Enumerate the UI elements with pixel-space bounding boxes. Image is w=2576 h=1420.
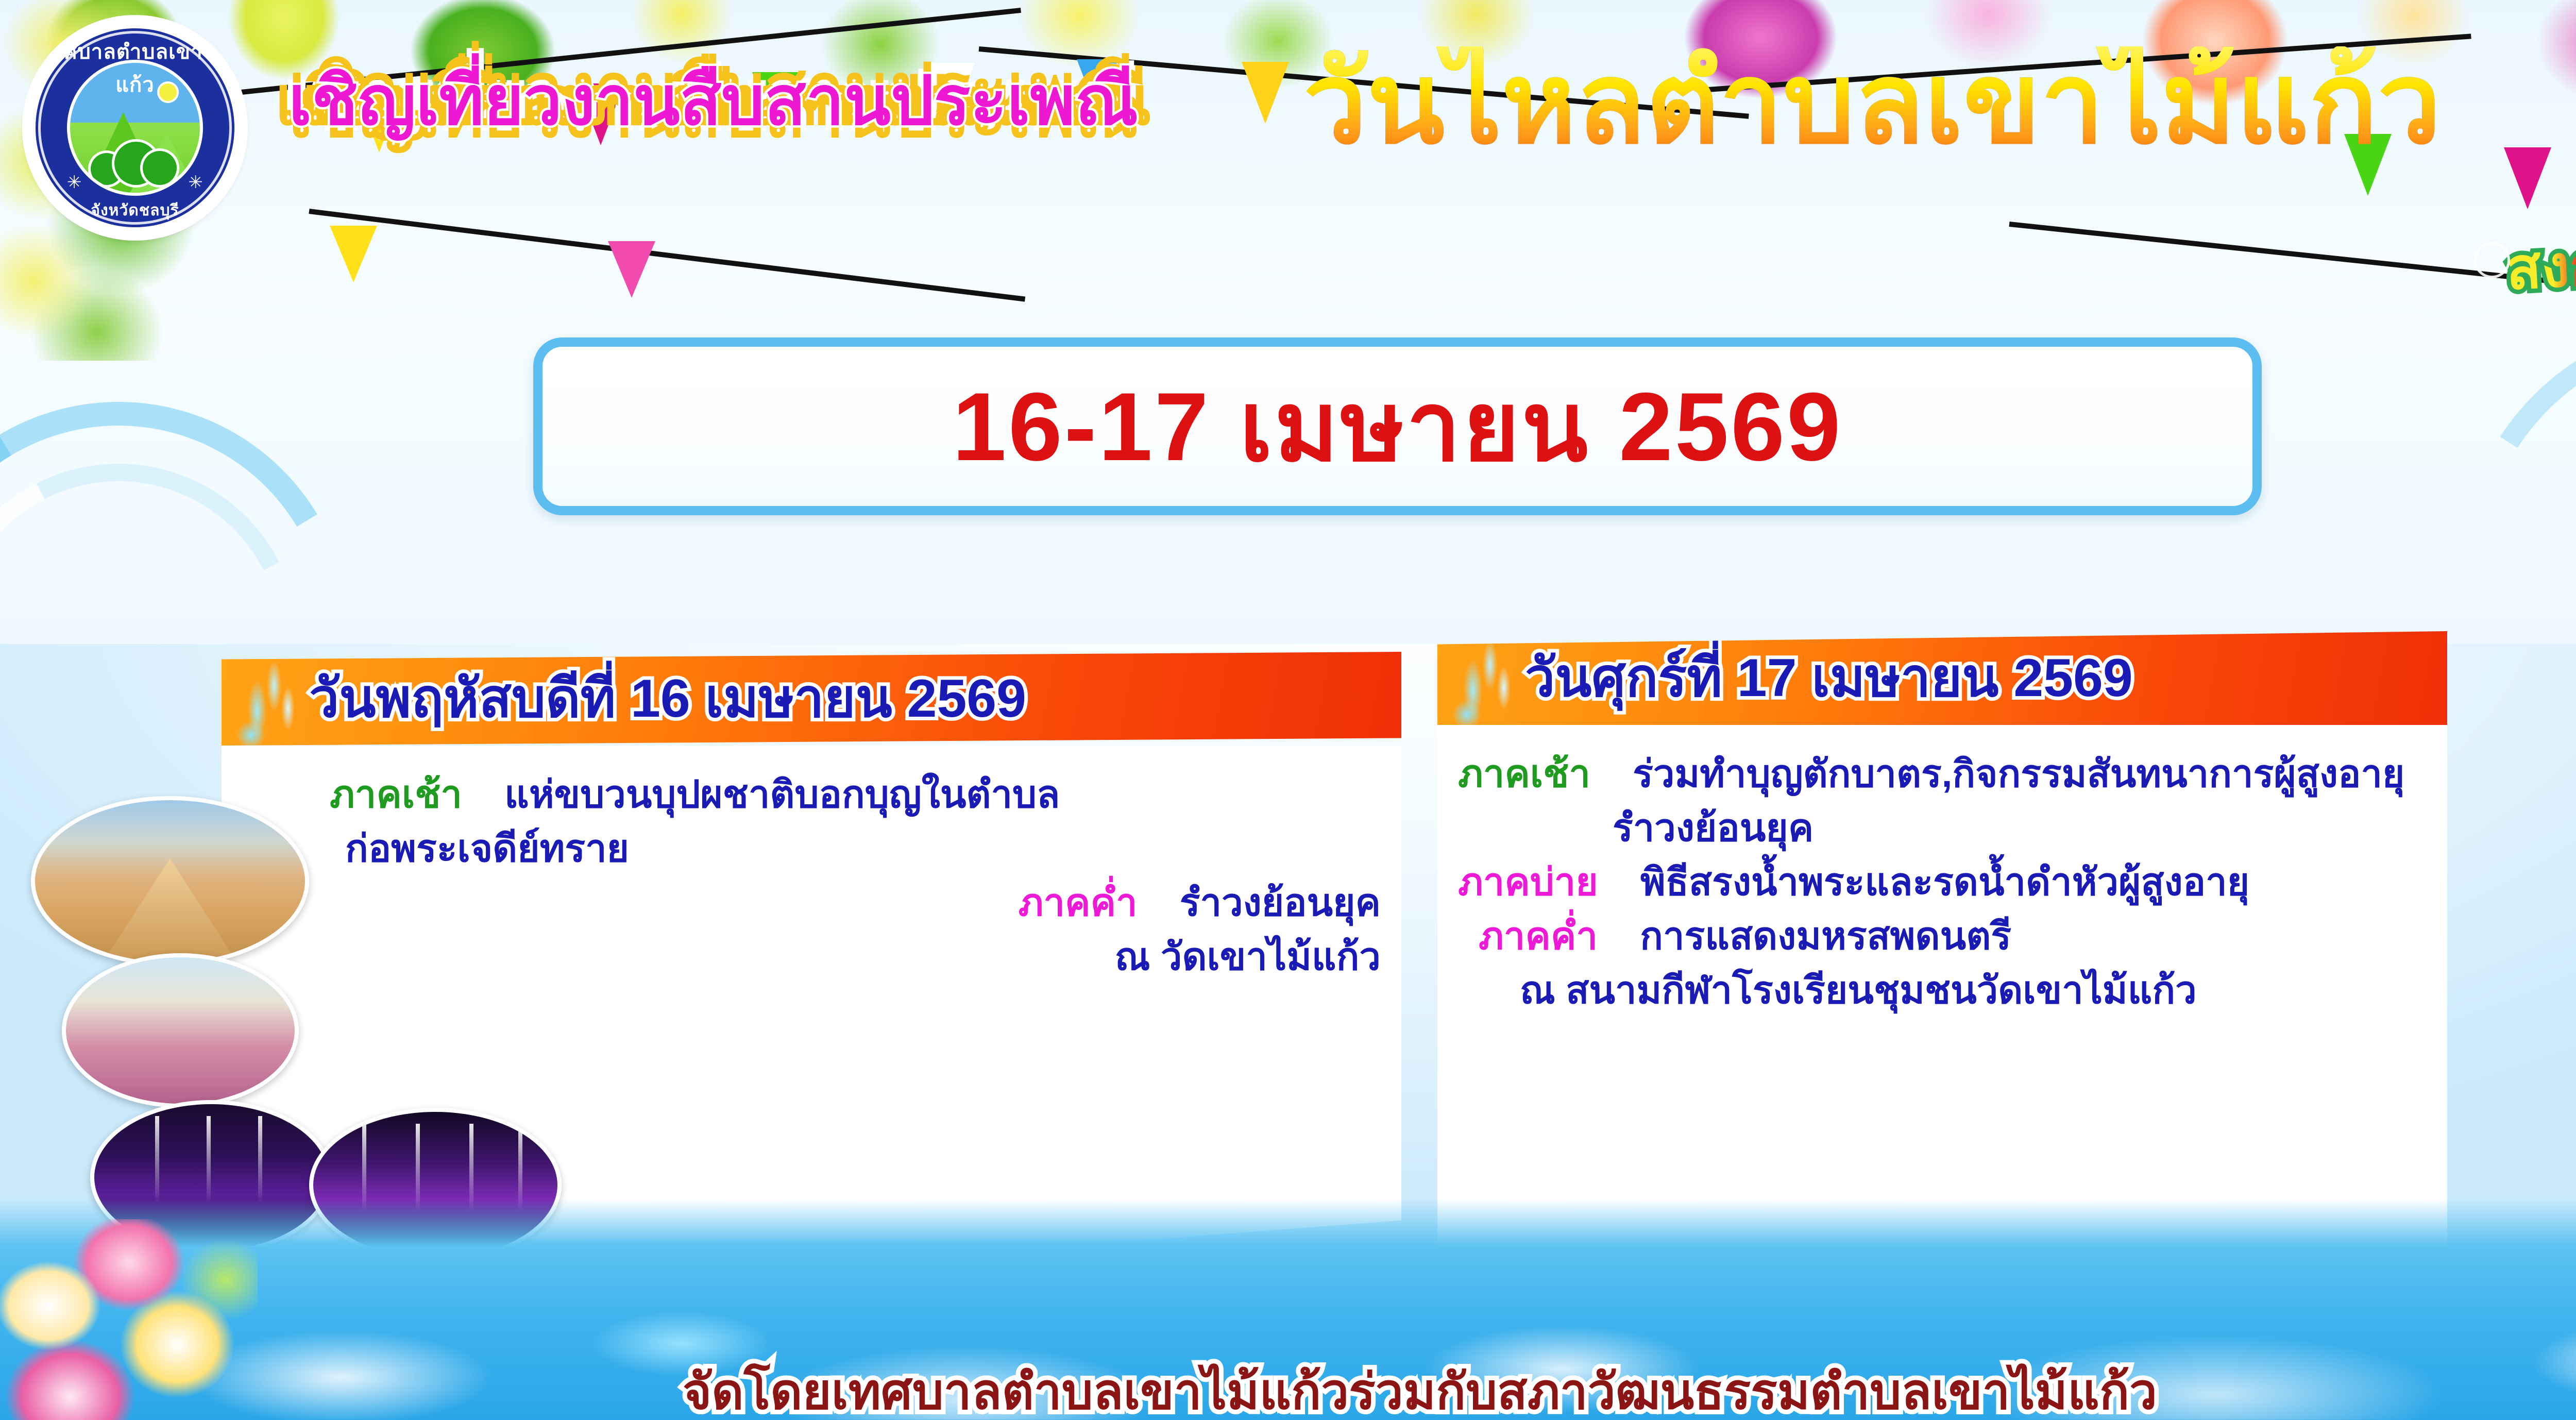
songkran-word: สงกรานต์ bbox=[2504, 228, 2576, 298]
day-two-header-label: วันศุกร์ที่ 17 เมษายน 2569 bbox=[1525, 651, 2133, 705]
schedule-line: ภาคค่ำ การแสดงมหรสพดนตรี bbox=[1458, 909, 2427, 963]
day-two-column: วันศุกร์ที่ 17 เมษายน 2569 ภาคเช้า ร่วมท… bbox=[1437, 631, 2447, 1258]
day-one-header: วันพฤหัสบดีที่ 16 เมษายน 2569 bbox=[222, 652, 1401, 746]
schedule-text: ก่อพระเจดีย์ทราย bbox=[345, 827, 629, 870]
poster-canvas: เทศบาลตำบลเขาไม้แก้ว จังหวัดชลบุรี ✳ ✳ เ… bbox=[0, 0, 2576, 1420]
logo-top-label: เทศบาลตำบลเขาไม้แก้ว bbox=[27, 35, 243, 101]
event-date-panel: 16-17 เมษายน 2569 bbox=[533, 337, 2262, 515]
star-icon: ✳ bbox=[189, 172, 204, 193]
schedule-line: ภาคเช้า แห่ขบวนบุปผชาติบอกบุญในตำบล bbox=[242, 767, 1381, 821]
schedule-text: พิธีสรงน้ำพระและรดน้ำดำหัวผู้สูงอายุ bbox=[1640, 860, 2249, 903]
schedule-tag: ภาคเช้า bbox=[1458, 752, 1590, 795]
schedule-line: ณ วัดเขาไม้แก้ว bbox=[242, 929, 1381, 984]
stage-light-icon bbox=[258, 1116, 262, 1204]
organizer-label: จัดโดยเทศบาลตำบลเขาไม้แก้วร่วมกับสภาวัฒน… bbox=[683, 1367, 2157, 1417]
schedule-line: ก่อพระเจดีย์ทราย bbox=[242, 821, 1381, 875]
bunting-flag bbox=[330, 226, 377, 282]
photo-group-participants bbox=[62, 953, 299, 1108]
logo-bottom-label: จังหวัดชลบุรี bbox=[27, 198, 243, 223]
schedule-line: รำวงย้อนยุค bbox=[1458, 801, 2427, 855]
day-two-schedule: ภาคเช้า ร่วมทำบุญตักบาตร,กิจกรรมสันทนากา… bbox=[1437, 725, 2447, 1258]
municipality-logo: เทศบาลตำบลเขาไม้แก้ว จังหวัดชลบุรี ✳ ✳ bbox=[27, 20, 243, 236]
bunting-flag bbox=[608, 241, 655, 298]
schedule-tag: ภาคเช้า bbox=[330, 773, 462, 816]
footer: จัดโดยเทศบาลตำบลเขาไม้แก้วร่วมกับสภาวัฒน… bbox=[0, 1367, 2576, 1417]
stage-light-icon bbox=[155, 1116, 159, 1204]
schedule-text: ณ สนามกีฬาโรงเรียนชุมชนวัดเขาไม้แก้ว bbox=[1520, 969, 2197, 1011]
day-one-header-label: วันพฤหัสบดีที่ 16 เมษายน 2569 bbox=[309, 672, 1026, 725]
water-splash-icon bbox=[1450, 626, 1527, 729]
event-date: 16-17 เมษายน 2569 bbox=[953, 378, 1843, 475]
schedule-line: ภาคเช้า ร่วมทำบุญตักบาตร,กิจกรรมสันทนากา… bbox=[1458, 747, 2427, 801]
water-splash-icon bbox=[234, 647, 311, 750]
star-icon: ✳ bbox=[67, 172, 82, 193]
stage-light-icon bbox=[207, 1116, 211, 1204]
schedule-text: แห่ขบวนบุปผชาติบอกบุญในตำบล bbox=[504, 773, 1060, 816]
poster-title-group: วันไหลตำบลเขาไม้แก้ว วันไหลตำบลเขาไม้แก้… bbox=[1303, 46, 2442, 160]
schedule-text: การแสดงมหรสพดนตรี bbox=[1640, 915, 2011, 957]
schedule-text: ณ วัดเขาไม้แก้ว bbox=[1115, 935, 1381, 978]
schedule-tag: ภาคบ่าย bbox=[1458, 860, 1598, 903]
photo-sand-pagoda bbox=[31, 796, 309, 966]
schedule-tag: ภาคค่ำ bbox=[1019, 881, 1138, 924]
bunting-flag bbox=[2504, 147, 2551, 209]
poster-title: วันไหลตำบลเขาไม้แก้ว bbox=[1303, 46, 2442, 160]
schedule-tag: ภาคค่ำ bbox=[1479, 915, 1598, 957]
schedule-text: ร่วมทำบุญตักบาตร,กิจกรรมสันทนาการผู้สูงอ… bbox=[1633, 752, 2404, 795]
tree-icon bbox=[143, 151, 177, 185]
schedule-text: รำวงย้อนยุค bbox=[1613, 806, 1814, 849]
sand-pagoda-shape bbox=[105, 858, 235, 959]
schedule-line: ภาคบ่าย พิธีสรงน้ำพระและรดน้ำดำหัวผู้สูง… bbox=[1458, 855, 2427, 909]
schedule-line: ภาคค่ำ รำวงย้อนยุค bbox=[242, 875, 1381, 929]
bunting-flag bbox=[1242, 62, 1289, 124]
schedule-line: ณ สนามกีฬาโรงเรียนชุมชนวัดเขาไม้แก้ว bbox=[1458, 963, 2427, 1017]
bubble-decor bbox=[2474, 242, 2510, 278]
poster-subtitle: เชิญเที่ยวงานสืบสานประเพณี bbox=[289, 67, 1138, 135]
schedule-text: รำวงย้อนยุค bbox=[1180, 881, 1381, 924]
day-two-header: วันศุกร์ที่ 17 เมษายน 2569 bbox=[1437, 631, 2447, 725]
